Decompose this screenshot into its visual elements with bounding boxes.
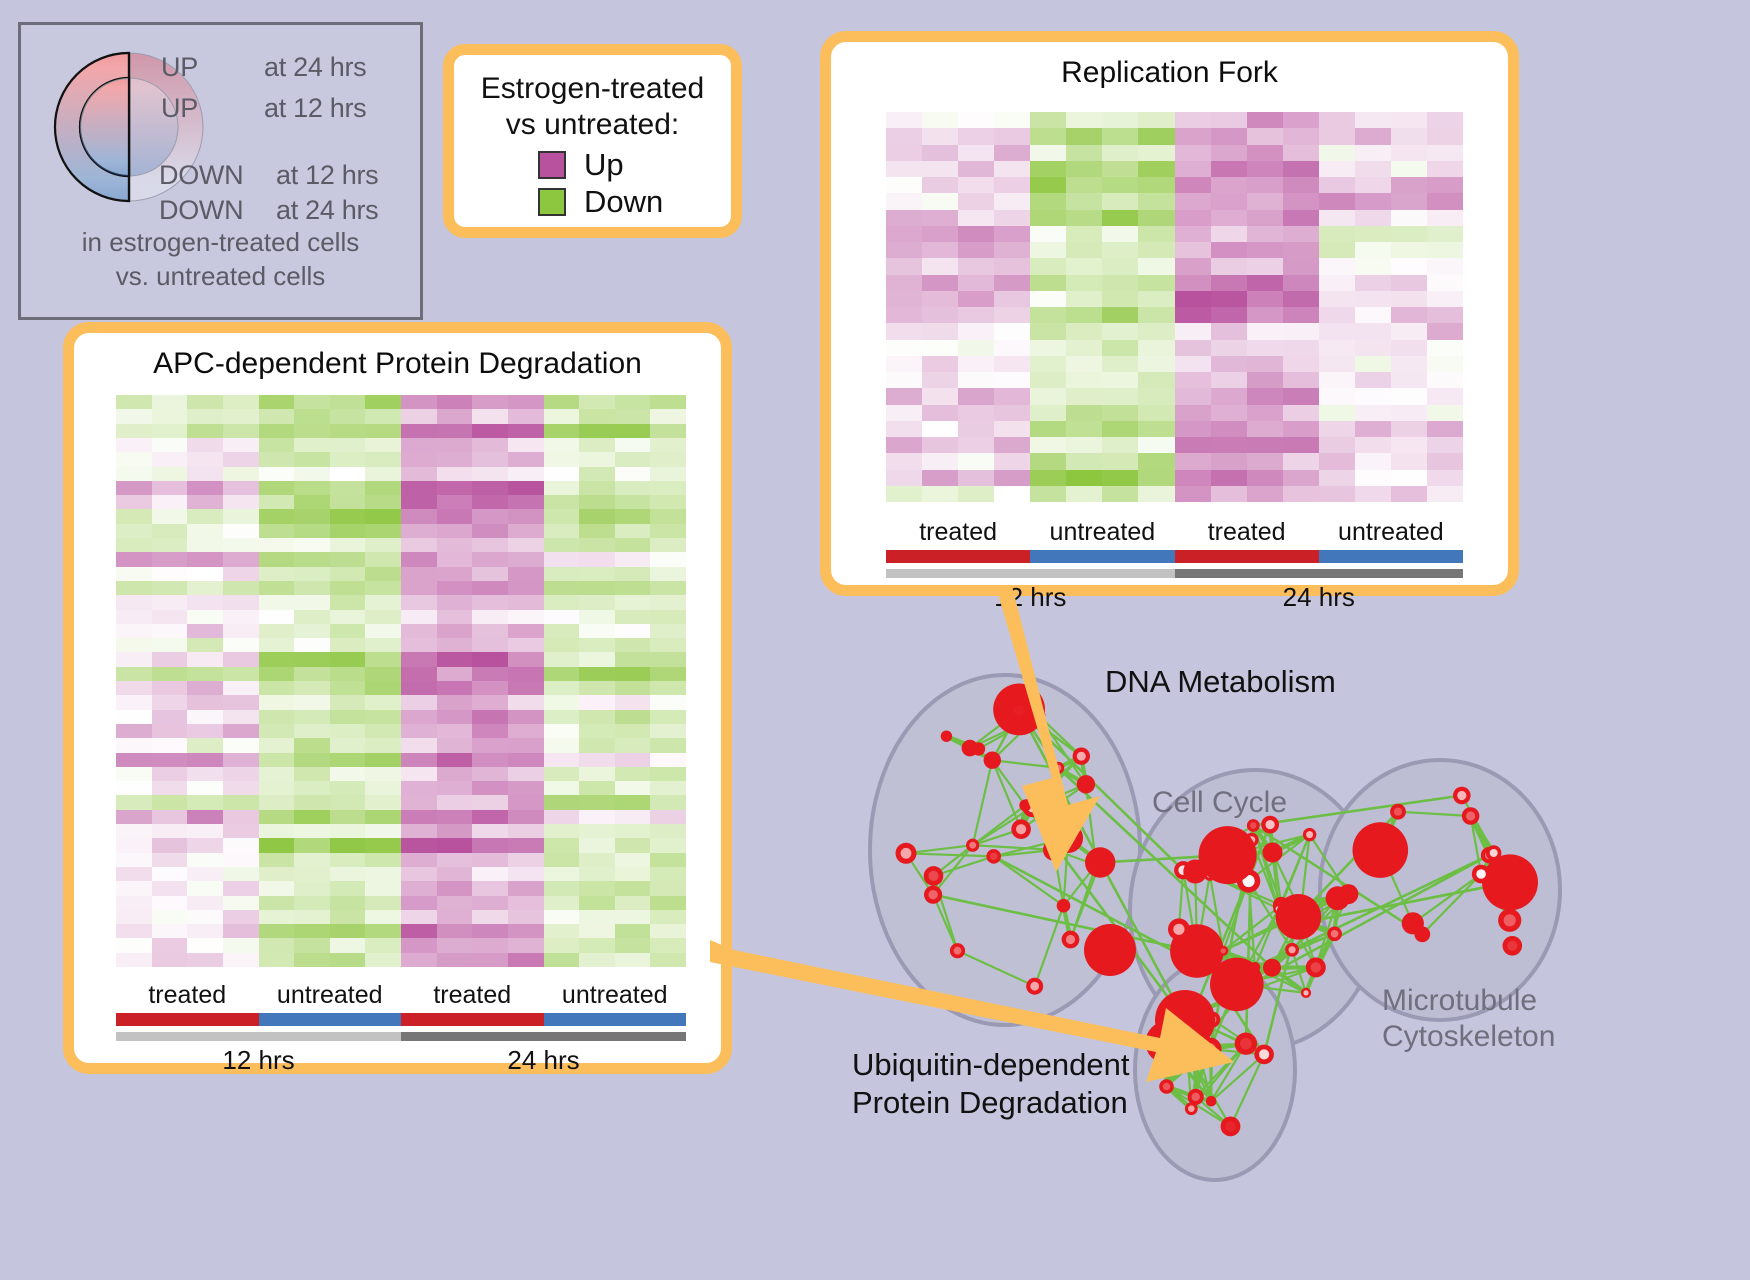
heatmap-replication-fork	[886, 112, 1463, 502]
heatmap-cell	[1283, 323, 1319, 339]
heatmap-cell	[958, 437, 994, 453]
heatmap-cell	[544, 853, 580, 867]
heatmap-cell	[1247, 242, 1283, 258]
heatmap-cell	[259, 438, 295, 452]
heatmap-cell	[152, 953, 188, 967]
heatmap-cell	[650, 953, 686, 967]
heatmap-cell	[472, 896, 508, 910]
heatmap-cell	[294, 509, 330, 523]
heatmap-cell	[615, 552, 651, 566]
heatmap-cell	[401, 867, 437, 881]
heatmap-cell	[223, 767, 259, 781]
heatmap-cell	[615, 724, 651, 738]
heatmap-cell	[994, 323, 1030, 339]
heatmap-cell	[886, 340, 922, 356]
heatmap-cell	[508, 924, 544, 938]
heatmap-cell	[958, 226, 994, 242]
heatmap-cell	[508, 810, 544, 824]
panel-apc-degradation: APC-dependent Protein Degradation treate…	[63, 322, 732, 1074]
heatmap-cell	[994, 421, 1030, 437]
up-color-swatch	[538, 151, 566, 179]
heatmap-cell	[615, 953, 651, 967]
heatmap-cell	[544, 538, 580, 552]
heatmap-cell	[958, 275, 994, 291]
heatmap-cell	[472, 795, 508, 809]
heatmap-cell	[544, 638, 580, 652]
wheel-time-up-12: at 12 hrs	[264, 93, 366, 124]
heatmap-cell	[401, 953, 437, 967]
heatmap-cell	[1138, 258, 1174, 274]
heatmap-cell	[330, 595, 366, 609]
heatmap-cell	[1102, 193, 1138, 209]
heatmap-cell	[116, 924, 152, 938]
heatmap-cell	[1355, 145, 1391, 161]
heatmap-cell	[615, 838, 651, 852]
heatmap-cell	[1247, 405, 1283, 421]
heatmap-cell	[330, 467, 366, 481]
heatmap-cell	[1283, 486, 1319, 502]
heatmap-cell	[958, 307, 994, 323]
heatmap-cell	[259, 767, 295, 781]
heatmap-cell	[958, 453, 994, 469]
heatmap-cell	[294, 738, 330, 752]
heatmap-cell	[1175, 340, 1211, 356]
heatmap-cell	[472, 438, 508, 452]
heatmap-cell	[544, 595, 580, 609]
network-node	[924, 866, 944, 886]
heatmap-cell	[365, 681, 401, 695]
heatmap-cell	[1355, 453, 1391, 469]
heatmap-cell	[1138, 193, 1174, 209]
heatmap-cell	[544, 552, 580, 566]
heatmap-cell	[330, 509, 366, 523]
heatmap-cell	[1102, 210, 1138, 226]
heatmap-cell	[365, 509, 401, 523]
heatmap-cell	[615, 710, 651, 724]
heatmap-cell	[187, 724, 223, 738]
heatmap-cell	[958, 193, 994, 209]
heatmap-cell	[116, 867, 152, 881]
heatmap-cell	[922, 112, 958, 128]
heatmap-cell	[1247, 437, 1283, 453]
heatmap-cell	[330, 567, 366, 581]
heatmap-cell	[437, 610, 473, 624]
network-node	[1185, 1102, 1198, 1115]
heatmap-cell	[994, 388, 1030, 404]
heatmap-cell	[1138, 210, 1174, 226]
heatmap-cell	[1030, 307, 1066, 323]
wheel-footnote-line2: vs. untreated cells	[21, 259, 420, 293]
heatmap-cell	[579, 724, 615, 738]
wheel-time-down-12: at 12 hrs	[276, 160, 378, 191]
heatmap-cell	[152, 567, 188, 581]
heatmap-cell	[650, 438, 686, 452]
heatmap-cell	[116, 438, 152, 452]
heatmap-cell	[472, 595, 508, 609]
heatmap-cell	[1355, 372, 1391, 388]
heatmap-cell	[544, 738, 580, 752]
heatmap-cell	[579, 452, 615, 466]
heatmap-cell	[615, 567, 651, 581]
heatmap-cell	[508, 824, 544, 838]
heatmap-cell	[650, 509, 686, 523]
heatmap-cell	[922, 307, 958, 323]
heatmap-cell	[472, 552, 508, 566]
heatmap-cell	[994, 161, 1030, 177]
heatmap-cell	[259, 867, 295, 881]
heatmap-cell	[886, 486, 922, 502]
heatmap-cell	[259, 838, 295, 852]
heatmap-cell	[922, 486, 958, 502]
heatmap-cell	[544, 795, 580, 809]
heatmap-cell	[1427, 453, 1463, 469]
panel-replication-fork: Replication Fork treated untreated treat…	[820, 31, 1519, 596]
heatmap-cell	[1319, 275, 1355, 291]
heatmap-cell	[1283, 128, 1319, 144]
heatmap-cell	[401, 610, 437, 624]
heatmap-cell	[472, 409, 508, 423]
heatmap-cell	[223, 452, 259, 466]
heatmap-cell	[1355, 226, 1391, 242]
heatmap-cell	[472, 610, 508, 624]
heatmap-cell	[152, 638, 188, 652]
heatmap-cell	[1066, 258, 1102, 274]
heatmap-cell	[1138, 275, 1174, 291]
heatmap-cell	[259, 810, 295, 824]
heatmap-cell	[437, 724, 473, 738]
heatmap-cell	[579, 538, 615, 552]
heatmap-cell	[330, 695, 366, 709]
heatmap-cell	[1391, 161, 1427, 177]
heatmap-cell	[1175, 112, 1211, 128]
heatmap-cell	[615, 509, 651, 523]
heatmap-cell	[365, 853, 401, 867]
heatmap-cell	[223, 638, 259, 652]
heatmap-cell	[922, 356, 958, 372]
heatmap-cell	[1283, 340, 1319, 356]
heatmap-cell	[294, 638, 330, 652]
heatmap-apc-degradation	[116, 395, 686, 967]
heatmap-cell	[330, 409, 366, 423]
heatmap-cell	[994, 193, 1030, 209]
heatmap-cell	[544, 938, 580, 952]
heatmap-cell	[259, 795, 295, 809]
heatmap-cell	[223, 724, 259, 738]
network-node	[1402, 912, 1424, 934]
heatmap-cell	[544, 781, 580, 795]
heatmap-cell	[330, 424, 366, 438]
heatmap-cell	[650, 567, 686, 581]
heatmap-cell	[187, 867, 223, 881]
heatmap-cell	[223, 853, 259, 867]
heatmap-cell	[508, 567, 544, 581]
heatmap-cell	[116, 395, 152, 409]
heatmap-cell	[437, 896, 473, 910]
heatmap-cell	[437, 910, 473, 924]
heatmap-cell	[1138, 356, 1174, 372]
heatmap-cell	[294, 538, 330, 552]
heatmap-cell	[116, 810, 152, 824]
heatmap-cell	[1427, 291, 1463, 307]
heatmap-cell	[1427, 161, 1463, 177]
heatmap-cell	[1138, 405, 1174, 421]
heatmap-cell	[1211, 340, 1247, 356]
heatmap-cell	[365, 495, 401, 509]
heatmap-cell	[615, 938, 651, 952]
heatmap-cell	[294, 467, 330, 481]
heatmap-cell	[437, 652, 473, 666]
heatmap-cell	[1247, 388, 1283, 404]
heatmap-cell	[994, 372, 1030, 388]
panel-title-replication-fork: Replication Fork	[831, 56, 1508, 90]
heatmap-cell	[259, 910, 295, 924]
heatmap-cell	[886, 128, 922, 144]
heatmap-cell	[544, 610, 580, 624]
heatmap-cell	[994, 486, 1030, 502]
group-label-1: untreated	[1030, 518, 1174, 547]
heatmap-cell	[365, 610, 401, 624]
heatmap-cell	[259, 681, 295, 695]
heatmap-cell	[187, 409, 223, 423]
heatmap-cell	[579, 581, 615, 595]
heatmap-cell	[259, 538, 295, 552]
heatmap-cell	[1102, 112, 1138, 128]
heatmap-cell	[1427, 486, 1463, 502]
heatmap-cell	[958, 291, 994, 307]
heatmap-cell	[116, 552, 152, 566]
wheel-label-up-12: UP	[161, 93, 198, 124]
heatmap-cell	[922, 177, 958, 193]
heatmap-cell	[472, 509, 508, 523]
heatmap-cell	[886, 258, 922, 274]
heatmap-cell	[1066, 112, 1102, 128]
heatmap-cell	[1102, 372, 1138, 388]
heatmap-cell	[1283, 145, 1319, 161]
heatmap-cell	[472, 638, 508, 652]
heatmap-cell	[922, 210, 958, 226]
heatmap-cell	[401, 567, 437, 581]
heatmap-cell	[472, 495, 508, 509]
heatmap-cell	[1030, 405, 1066, 421]
heatmap-cell	[1427, 405, 1463, 421]
heatmap-cell	[152, 781, 188, 795]
time-label-24: 24 hrs	[401, 1045, 686, 1076]
heatmap-cell	[1030, 226, 1066, 242]
heatmap-cell	[1030, 291, 1066, 307]
heatmap-cell	[187, 467, 223, 481]
heatmap-cell	[1138, 323, 1174, 339]
heatmap-cell	[1030, 242, 1066, 258]
heatmap-cell	[922, 275, 958, 291]
heatmap-cell	[544, 753, 580, 767]
heatmap-cell	[579, 624, 615, 638]
heatmap-cell	[437, 681, 473, 695]
heatmap-cell	[1355, 486, 1391, 502]
heatmap-cell	[1066, 486, 1102, 502]
heatmap-cell	[1319, 307, 1355, 323]
heatmap-cell	[187, 896, 223, 910]
group-label-0: treated	[886, 518, 1030, 547]
heatmap-cell	[1211, 242, 1247, 258]
heatmap-cell	[152, 667, 188, 681]
heatmap-cell	[579, 595, 615, 609]
group-bar-untreated-24	[544, 1013, 687, 1026]
heatmap-cell	[223, 910, 259, 924]
heatmap-cell	[330, 610, 366, 624]
group-bar-treated-12	[116, 1013, 259, 1026]
heatmap-cell	[508, 524, 544, 538]
heatmap-cell	[1283, 177, 1319, 193]
heatmap-cell	[152, 681, 188, 695]
heatmap-cell	[116, 767, 152, 781]
network-node	[1498, 909, 1521, 932]
down-color-swatch	[538, 188, 566, 216]
heatmap-cell	[187, 710, 223, 724]
heatmap-cell	[1030, 437, 1066, 453]
heatmap-cell	[508, 753, 544, 767]
heatmap-cell	[330, 481, 366, 495]
heatmap-cell	[1283, 388, 1319, 404]
heatmap-cell	[437, 481, 473, 495]
heatmap-cell	[152, 910, 188, 924]
heatmap-cell	[152, 738, 188, 752]
heatmap-cell	[223, 838, 259, 852]
heatmap-cell	[223, 509, 259, 523]
heatmap-cell	[187, 595, 223, 609]
heatmap-cell	[116, 681, 152, 695]
heatmap-cell	[615, 538, 651, 552]
heatmap-cell	[259, 509, 295, 523]
heatmap-cell	[223, 538, 259, 552]
heatmap-cell	[994, 291, 1030, 307]
heatmap-cell	[1427, 193, 1463, 209]
heatmap-cell	[152, 838, 188, 852]
heatmap-cell	[294, 881, 330, 895]
heatmap-cell	[922, 453, 958, 469]
heatmap-cell	[187, 824, 223, 838]
heatmap-cell	[365, 896, 401, 910]
heatmap-cell	[1102, 437, 1138, 453]
heatmap-cell	[401, 509, 437, 523]
heatmap-cell	[1066, 193, 1102, 209]
heatmap-cell	[579, 753, 615, 767]
heatmap-cell	[152, 395, 188, 409]
heatmap-cell	[401, 409, 437, 423]
heatmap-cell	[1319, 388, 1355, 404]
heatmap-cell	[259, 552, 295, 566]
heatmap-cell	[1319, 470, 1355, 486]
heatmap-cell	[1211, 470, 1247, 486]
heatmap-cell	[1391, 177, 1427, 193]
heatmap-cell	[472, 395, 508, 409]
heatmap-cell	[1066, 226, 1102, 242]
heatmap-cell	[1247, 291, 1283, 307]
heatmap-cell	[116, 795, 152, 809]
heatmap-cell	[1175, 226, 1211, 242]
heatmap-cell	[187, 481, 223, 495]
heatmap-cell	[508, 853, 544, 867]
network-node	[1482, 854, 1538, 910]
heatmap-cell	[650, 409, 686, 423]
heatmap-cell	[1319, 453, 1355, 469]
heatmap-cell	[1211, 405, 1247, 421]
time-bar-12	[116, 1032, 401, 1041]
heatmap-cell	[294, 567, 330, 581]
heatmap-cell	[294, 667, 330, 681]
heatmap-cell	[259, 424, 295, 438]
heatmap-cell	[958, 340, 994, 356]
heatmap-cell	[152, 753, 188, 767]
heatmap-cell	[886, 275, 922, 291]
heatmap-cell	[958, 210, 994, 226]
heatmap-cell	[437, 438, 473, 452]
heatmap-cell	[365, 524, 401, 538]
heatmap-cell	[886, 437, 922, 453]
heatmap-cell	[1319, 486, 1355, 502]
heatmap-cell	[650, 896, 686, 910]
heatmap-cell	[1102, 405, 1138, 421]
heatmap-cell	[650, 681, 686, 695]
heatmap-cell	[1355, 291, 1391, 307]
heatmap-cell	[152, 924, 188, 938]
heatmap-cell	[1391, 291, 1427, 307]
heatmap-cell	[294, 495, 330, 509]
heatmap-cell	[1427, 210, 1463, 226]
heatmap-cell	[152, 853, 188, 867]
heatmap-cell	[1175, 291, 1211, 307]
heatmap-cell	[1211, 112, 1247, 128]
heatmap-cell	[152, 710, 188, 724]
heatmap-cell	[1066, 405, 1102, 421]
heatmap-cell	[365, 424, 401, 438]
heatmap-cell	[365, 795, 401, 809]
heatmap-cell	[1211, 210, 1247, 226]
heatmap-cell	[1319, 210, 1355, 226]
heatmap-cell	[401, 552, 437, 566]
heatmap-cell	[886, 421, 922, 437]
heatmap-cell	[1319, 291, 1355, 307]
heatmap-cell	[472, 452, 508, 466]
heatmap-cell	[1391, 372, 1427, 388]
heatmap-cell	[1030, 177, 1066, 193]
heatmap-cell	[615, 853, 651, 867]
heatmap-cell	[1066, 275, 1102, 291]
heatmap-cell	[508, 667, 544, 681]
heatmap-cell	[187, 810, 223, 824]
heatmap-cell	[116, 538, 152, 552]
heatmap-cell	[615, 924, 651, 938]
heatmap-cell	[579, 395, 615, 409]
heatmap-cell	[330, 767, 366, 781]
heatmap-cell	[187, 395, 223, 409]
heatmap-cell	[116, 581, 152, 595]
heatmap-cell	[650, 452, 686, 466]
heatmap-cell	[1391, 242, 1427, 258]
heatmap-cell	[1175, 453, 1211, 469]
heatmap-cell	[579, 695, 615, 709]
heatmap-cell	[922, 372, 958, 388]
heatmap-cell	[1138, 470, 1174, 486]
heatmap-cell	[223, 424, 259, 438]
heatmap-cell	[886, 470, 922, 486]
heatmap-cell	[401, 753, 437, 767]
heatmap-cell	[615, 910, 651, 924]
heatmap-cell	[579, 896, 615, 910]
heatmap-cell	[922, 323, 958, 339]
heatmap-cell	[187, 924, 223, 938]
group-label-3: untreated	[1319, 518, 1463, 547]
heatmap-cell	[116, 853, 152, 867]
